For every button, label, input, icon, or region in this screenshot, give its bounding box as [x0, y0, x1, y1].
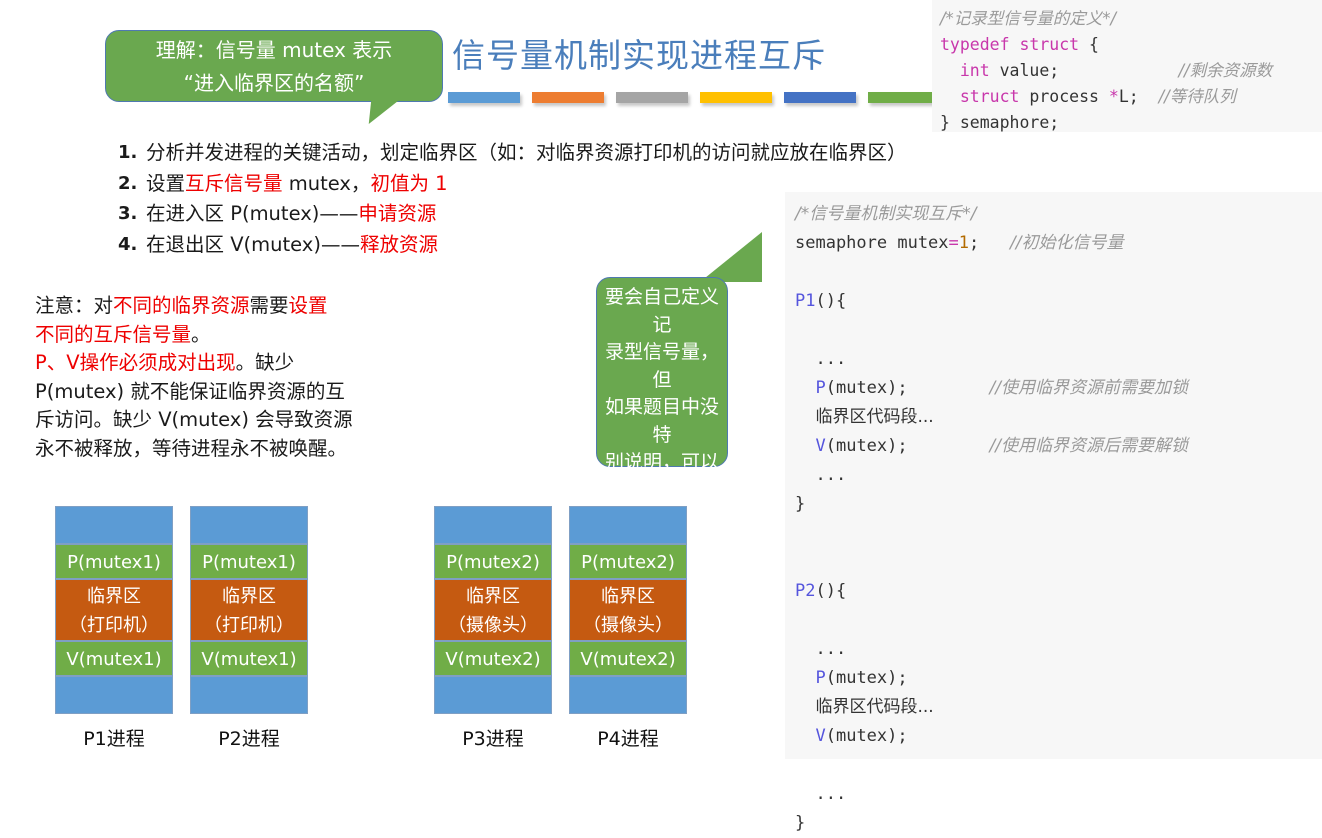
process-segment-exit	[569, 676, 687, 714]
note-line: 注意：对不同的临界资源需要设置	[35, 292, 575, 321]
code-block-mutex-implementation: /*信号量机制实现互斥*/ semaphore mutex=1; //初始化信号…	[785, 192, 1322, 759]
callout-right-line3: 如果题目中没特	[597, 394, 727, 449]
process-segment-p-operation: P(mutex2)	[569, 544, 687, 579]
process-column: P(mutex1)临界区（打印机）V(mutex1)P1进程	[55, 506, 173, 751]
note-line: P(mutex) 就不能保证临界资源的互	[35, 378, 575, 407]
divider-bar-green	[868, 92, 940, 103]
process-segment-p-operation: P(mutex2)	[434, 544, 552, 579]
process-segment-entry	[55, 506, 173, 544]
process-segment-entry	[434, 506, 552, 544]
process-segment-exit	[55, 676, 173, 714]
divider-bar-gray	[616, 92, 688, 103]
callout-right-tail	[700, 232, 762, 282]
process-segment-exit	[190, 676, 308, 714]
callout-top-line1: 理解：信号量 mutex 表示	[106, 34, 442, 67]
process-segment-p-operation: P(mutex1)	[55, 544, 173, 579]
callout-right-line1: 要会自己定义记	[597, 284, 727, 339]
callout-right-line2: 录型信号量，但	[597, 339, 727, 394]
code-main-comment: /*信号量机制实现互斥*/	[795, 204, 976, 224]
step-item: 2.设置互斥信号量 mutex，初值为 1	[118, 171, 818, 198]
process-column: P(mutex1)临界区（打印机）V(mutex1)P2进程	[190, 506, 308, 751]
note-line: 不同的互斥信号量。	[35, 321, 575, 350]
code-top-comment: /*记录型信号量的定义*/	[940, 9, 1116, 28]
divider-bar-yellow	[700, 92, 772, 103]
process-label: P4进程	[569, 724, 687, 751]
process-segment-v-operation: V(mutex2)	[569, 641, 687, 676]
process-segment-v-operation: V(mutex1)	[55, 641, 173, 676]
callout-bubble-tip: 要会自己定义记 录型信号量，但 如果题目中没特 别说明，可以把 信号量的声明简 …	[596, 277, 728, 467]
code-block-semaphore-definition: /*记录型信号量的定义*/ typedef struct { int value…	[932, 0, 1322, 132]
step-text: 在退出区 V(mutex)——释放资源	[146, 232, 438, 259]
divider-bar-indigo	[784, 92, 856, 103]
process-label: P3进程	[434, 724, 552, 751]
process-segment-entry	[569, 506, 687, 544]
process-segment-exit	[434, 676, 552, 714]
process-segment-v-operation: V(mutex2)	[434, 641, 552, 676]
page-title: 信号量机制实现进程互斥	[452, 36, 722, 76]
step-number: 4.	[118, 232, 146, 259]
process-segment-critical-section: 临界区（摄像头）	[434, 579, 552, 641]
step-text: 在进入区 P(mutex)——申请资源	[146, 201, 436, 228]
process-column: P(mutex2)临界区（摄像头）V(mutex2)P4进程	[569, 506, 687, 751]
note-line: 斥访问。缺少 V(mutex) 会导致资源	[35, 406, 575, 435]
process-segment-critical-section: 临界区（打印机）	[190, 579, 308, 641]
step-number: 1.	[118, 140, 146, 167]
callout-bubble-understanding: 理解：信号量 mutex 表示 “进入临界区的名额”	[105, 30, 443, 102]
process-column: P(mutex2)临界区（摄像头）V(mutex2)P3进程	[434, 506, 552, 751]
step-text: 设置互斥信号量 mutex，初值为 1	[146, 171, 448, 198]
note-line: 永不被释放，等待进程永不被唤醒。	[35, 435, 575, 464]
callout-right-line4: 别说明，可以把	[597, 449, 727, 504]
step-item: 1.分析并发进程的关键活动，划定临界区（如：对临界资源打印机的访问就应放在临界区…	[118, 140, 818, 167]
process-segment-critical-section: 临界区（打印机）	[55, 579, 173, 641]
step-number: 3.	[118, 201, 146, 228]
process-label: P2进程	[190, 724, 308, 751]
step-item: 3.在进入区 P(mutex)——申请资源	[118, 201, 818, 228]
process-segment-v-operation: V(mutex1)	[190, 641, 308, 676]
process-segment-critical-section: 临界区（摄像头）	[569, 579, 687, 641]
note-line: P、V操作必须成对出现。缺少	[35, 349, 575, 378]
callout-top-tail	[369, 100, 420, 124]
process-segment-entry	[190, 506, 308, 544]
divider-bar-orange	[532, 92, 604, 103]
divider-bar-row	[448, 92, 940, 103]
step-number: 2.	[118, 171, 146, 198]
process-label: P1进程	[55, 724, 173, 751]
note-paragraph: 注意：对不同的临界资源需要设置不同的互斥信号量。P、V操作必须成对出现。缺少P(…	[35, 292, 575, 463]
step-text: 分析并发进程的关键活动，划定临界区（如：对临界资源打印机的访问就应放在临界区）	[146, 140, 907, 167]
callout-top-line2: “进入临界区的名额”	[106, 67, 442, 100]
divider-bar-blue	[448, 92, 520, 103]
process-segment-p-operation: P(mutex1)	[190, 544, 308, 579]
